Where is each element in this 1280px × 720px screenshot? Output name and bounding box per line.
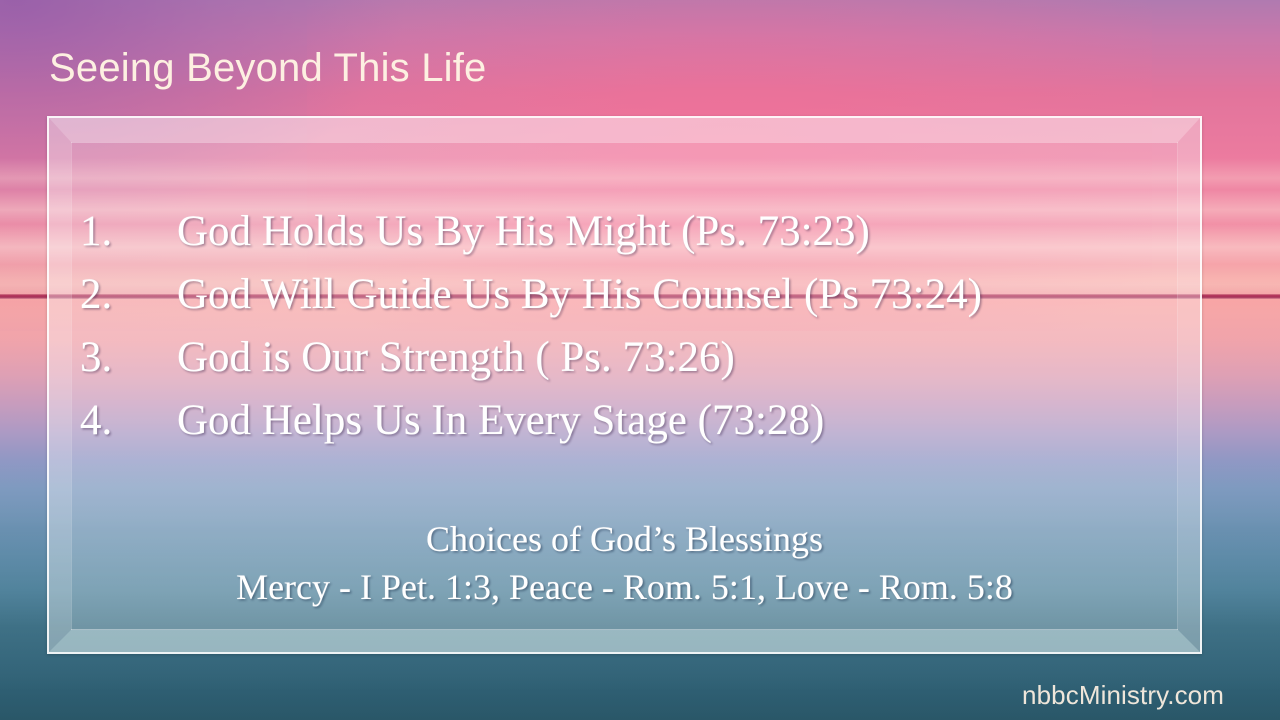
watermark-site-url: nbbcMinistry.com xyxy=(1022,680,1224,711)
list-item: 1. God Holds Us By His Might (Ps. 73:23) xyxy=(80,200,1190,263)
subtext-references: Mercy - I Pet. 1:3, Peace - Rom. 5:1, Lo… xyxy=(49,563,1200,611)
numbered-point-list: 1. God Holds Us By His Might (Ps. 73:23)… xyxy=(80,200,1190,452)
frame-content: 1. God Holds Us By His Might (Ps. 73:23)… xyxy=(49,118,1200,652)
list-item-label: God is Our Strength ( Ps. 73:26) xyxy=(177,326,735,389)
list-item: 3. God is Our Strength ( Ps. 73:26) xyxy=(80,326,1190,389)
list-item-number: 2. xyxy=(80,263,177,326)
content-frame: 1. God Holds Us By His Might (Ps. 73:23)… xyxy=(47,116,1202,654)
subtext-heading: Choices of God’s Blessings xyxy=(49,516,1200,563)
subtext-block: Choices of God’s Blessings Mercy - I Pet… xyxy=(49,516,1200,611)
list-item-number: 4. xyxy=(80,389,177,452)
list-item: 2. God Will Guide Us By His Counsel (Ps … xyxy=(80,263,1190,326)
list-item: 4. God Helps Us In Every Stage (73:28) xyxy=(80,389,1190,452)
presentation-slide: Seeing Beyond This Life 1. God Holds Us … xyxy=(0,0,1280,720)
list-item-label: God Helps Us In Every Stage (73:28) xyxy=(177,389,824,452)
list-item-label: God Holds Us By His Might (Ps. 73:23) xyxy=(177,200,870,263)
list-item-label: God Will Guide Us By His Counsel (Ps 73:… xyxy=(177,263,982,326)
list-item-number: 1. xyxy=(80,200,177,263)
list-item-number: 3. xyxy=(80,326,177,389)
page-title: Seeing Beyond This Life xyxy=(49,46,487,91)
